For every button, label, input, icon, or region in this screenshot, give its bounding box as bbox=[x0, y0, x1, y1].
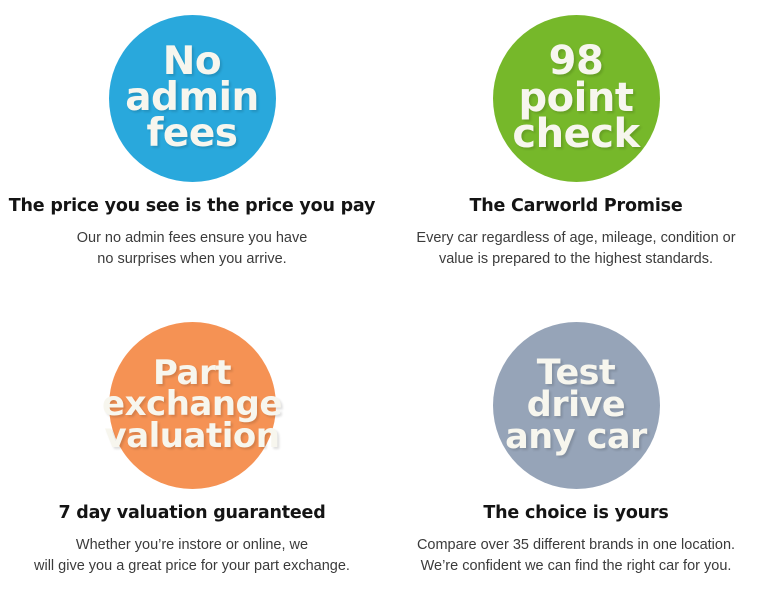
usp-heading: 7 day valuation guaranteed bbox=[52, 503, 331, 524]
badge-wrapper: Part exchange valuation bbox=[0, 307, 384, 503]
usp-description: Whether you’re instore or online, we wil… bbox=[32, 535, 352, 577]
badge-circle-98-point-check: 98 point check bbox=[493, 15, 660, 182]
badge-circle-no-admin-fees: No admin fees bbox=[109, 15, 276, 182]
usp-card-test-drive-any-car: Test drive any car The choice is yours C… bbox=[384, 307, 768, 614]
badge-wrapper: No admin fees bbox=[0, 0, 384, 196]
badge-wrapper: 98 point check bbox=[384, 0, 768, 196]
badge-label: Part exchange valuation bbox=[102, 358, 282, 452]
badge-circle-part-exchange-valuation: Part exchange valuation bbox=[109, 322, 276, 489]
usp-heading: The Carworld Promise bbox=[463, 196, 688, 217]
usp-grid: No admin fees The price you see is the p… bbox=[0, 0, 768, 614]
usp-description: Every car regardless of age, mileage, co… bbox=[412, 228, 739, 270]
badge-label: 98 point check bbox=[512, 43, 639, 153]
usp-description: Compare over 35 different brands in one … bbox=[415, 535, 737, 577]
badge-circle-test-drive-any-car: Test drive any car bbox=[493, 322, 660, 489]
usp-card-98-point-check: 98 point check The Carworld Promise Ever… bbox=[384, 0, 768, 307]
usp-card-part-exchange-valuation: Part exchange valuation 7 day valuation … bbox=[0, 307, 384, 614]
badge-wrapper: Test drive any car bbox=[384, 307, 768, 503]
badge-label: No admin fees bbox=[125, 44, 259, 152]
usp-heading: The choice is yours bbox=[477, 503, 674, 524]
usp-heading: The price you see is the price you pay bbox=[3, 196, 381, 217]
usp-card-no-admin-fees: No admin fees The price you see is the p… bbox=[0, 0, 384, 307]
usp-description: Our no admin fees ensure you have no sur… bbox=[73, 228, 312, 270]
badge-label: Test drive any car bbox=[505, 357, 647, 454]
